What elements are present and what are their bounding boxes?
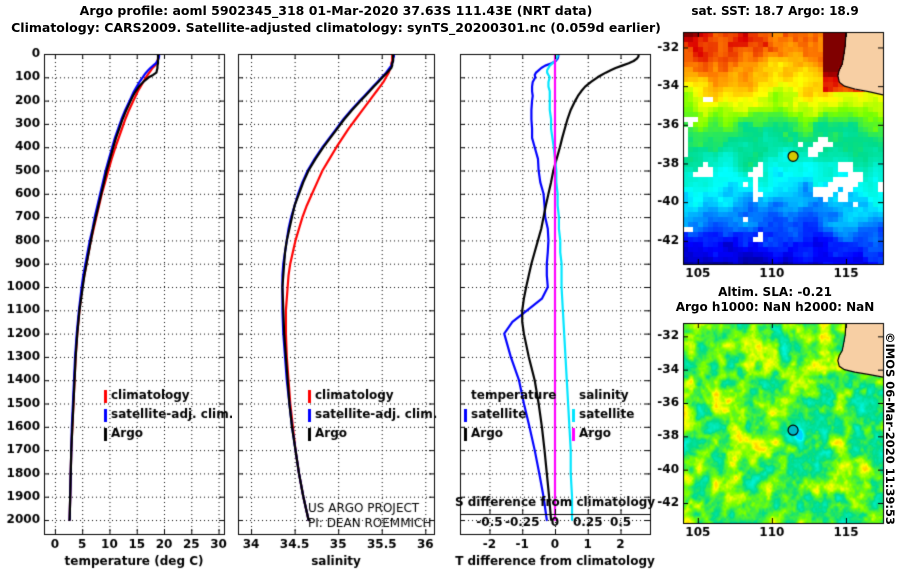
sst-map[interactable] bbox=[655, 22, 900, 292]
sla-map-title-line1: Altim. SLA: -0.21 bbox=[655, 285, 895, 299]
title-line-2: Climatology: CARS2009. Satellite-adjuste… bbox=[0, 19, 672, 36]
salinity-panel bbox=[232, 38, 454, 580]
figure-title: Argo profile: aoml 5902345_318 01-Mar-20… bbox=[0, 2, 672, 36]
salinity-profile-chart[interactable] bbox=[232, 38, 454, 580]
sla-map-title-line2: Argo h1000: NaN h2000: NaN bbox=[655, 300, 895, 314]
credit-text: ©IMOS 06-Mar-2020 11:39:53 bbox=[883, 332, 897, 525]
temperature-profile-chart[interactable] bbox=[0, 38, 232, 580]
difference-profile-chart[interactable] bbox=[454, 38, 672, 580]
credit-block: ©IMOS 06-Mar-2020 11:39:53 bbox=[884, 332, 900, 562]
difference-panel bbox=[454, 38, 672, 580]
sst-map-title: sat. SST: 18.7 Argo: 18.9 bbox=[655, 4, 895, 18]
title-line-1: Argo profile: aoml 5902345_318 01-Mar-20… bbox=[0, 2, 672, 19]
sla-map[interactable] bbox=[655, 315, 900, 565]
temperature-panel bbox=[0, 38, 232, 580]
sst-map-panel bbox=[655, 22, 900, 292]
sla-map-panel bbox=[655, 315, 900, 565]
